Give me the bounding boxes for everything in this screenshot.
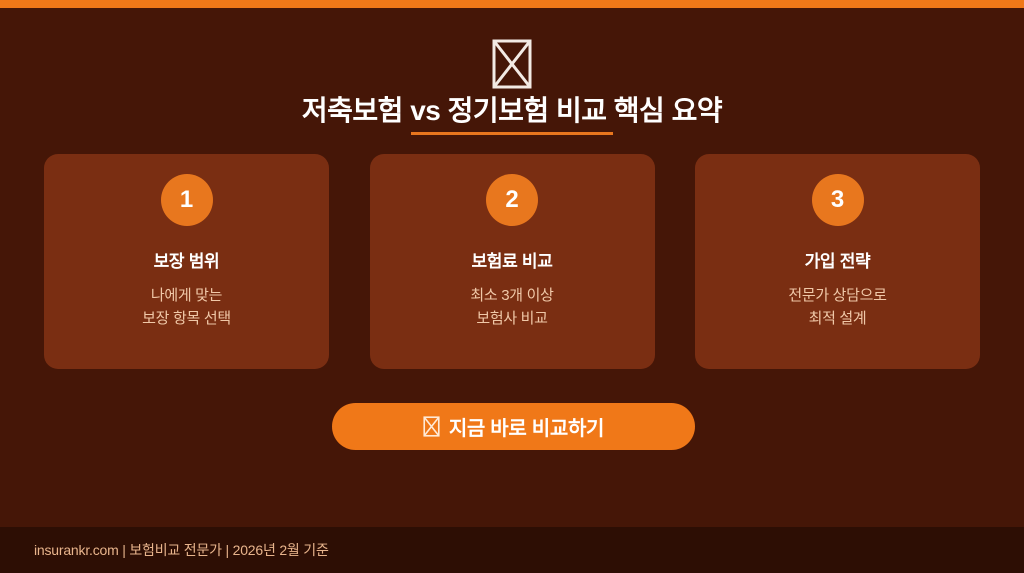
- card-3: 3 가입 전략 전문가 상담으로 최적 설계: [695, 154, 980, 369]
- page-title-wrap: 저축보험 vs 정기보험 비교 핵심 요약: [302, 96, 722, 137]
- compare-now-button-label: 지금 바로 비교하기: [449, 412, 604, 441]
- card-3-desc-line-2: 최적 설계: [788, 307, 886, 330]
- infographic-page: 저축보험 vs 정기보험 비교 핵심 요약 1 보장 범위 나에게 맞는 보장 …: [0, 0, 1024, 573]
- footer: insurankr.com | 보험비교 전문가 | 2026년 2월 기준: [0, 527, 1024, 573]
- card-1: 1 보장 범위 나에게 맞는 보장 항목 선택: [44, 154, 329, 369]
- card-3-description: 전문가 상담으로 최적 설계: [788, 284, 886, 331]
- card-1-number-badge: 1: [161, 174, 213, 226]
- missing-glyph-box-icon: [423, 416, 440, 437]
- card-1-title: 보장 범위: [154, 247, 220, 272]
- page-title: 저축보험 vs 정기보험 비교 핵심 요약: [302, 96, 722, 127]
- card-1-description: 나에게 맞는 보장 항목 선택: [142, 284, 231, 331]
- card-2-desc-line-2: 보험사 비교: [470, 307, 553, 330]
- card-1-desc-line-1: 나에게 맞는: [142, 284, 231, 307]
- card-3-title: 가입 전략: [805, 247, 871, 272]
- compare-now-button[interactable]: 지금 바로 비교하기: [332, 403, 695, 450]
- cards-row: 1 보장 범위 나에게 맞는 보장 항목 선택 2 보험료 비교 최소 3개 이…: [44, 154, 980, 369]
- card-2-title: 보험료 비교: [471, 247, 552, 272]
- card-2-number-badge: 2: [486, 174, 538, 226]
- header: 저축보험 vs 정기보험 비교 핵심 요약: [0, 8, 1024, 137]
- card-3-desc-line-1: 전문가 상담으로: [788, 284, 886, 307]
- card-2: 2 보험료 비교 최소 3개 이상 보험사 비교: [370, 154, 655, 369]
- card-2-desc-line-1: 최소 3개 이상: [470, 284, 553, 307]
- card-3-number-badge: 3: [812, 174, 864, 226]
- footer-text: insurankr.com | 보험비교 전문가 | 2026년 2월 기준: [34, 540, 329, 560]
- title-underline: [411, 132, 613, 135]
- card-2-description: 최소 3개 이상 보험사 비교: [470, 284, 553, 331]
- card-1-desc-line-2: 보장 항목 선택: [142, 307, 231, 330]
- missing-glyph-box-icon: [491, 38, 533, 90]
- top-accent-bar: [0, 0, 1024, 8]
